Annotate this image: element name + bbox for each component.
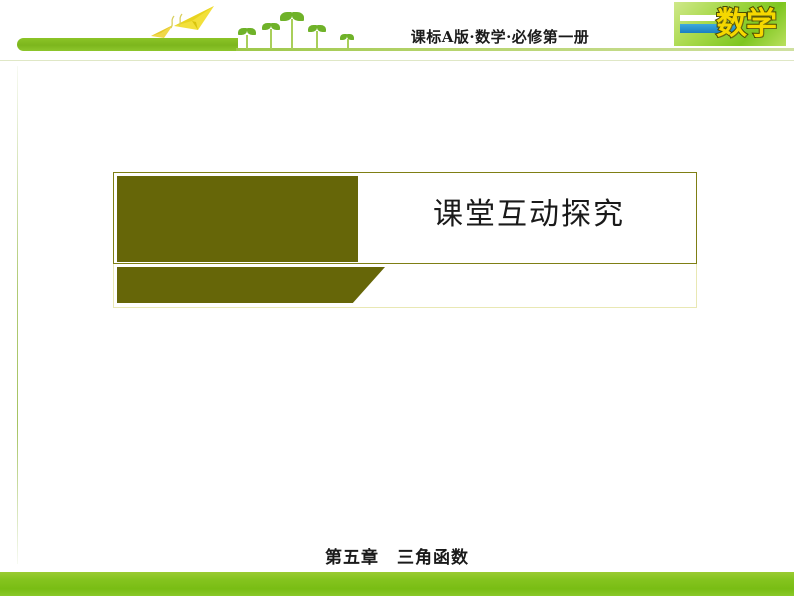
sprout-icon	[238, 27, 256, 49]
section-title-block	[117, 176, 358, 262]
header-title: 课标A版·数学·必修第一册	[380, 26, 620, 47]
slide-canvas: 课标A版·数学·必修第一册 数学 课堂互动探究 第五章 三角函数	[0, 0, 794, 596]
slide-header: 课标A版·数学·必修第一册 数学	[0, 0, 794, 62]
logo-label: 数学	[716, 4, 776, 44]
section-subtitle-box	[113, 264, 697, 308]
sprout-icon	[308, 24, 326, 49]
footer-green-bar	[0, 572, 794, 596]
subject-logo: 数学	[674, 2, 786, 46]
sprout-icon	[262, 22, 280, 49]
header-divider	[0, 60, 794, 61]
section-title-box: 课堂互动探究	[113, 172, 697, 264]
sprout-icon	[280, 11, 304, 49]
motion-squiggle-icon	[168, 12, 188, 30]
section-subtitle-block	[117, 267, 385, 303]
left-vertical-rule	[17, 66, 18, 564]
header-green-bar	[17, 38, 238, 51]
section-title-text: 课堂互动探究	[364, 189, 694, 233]
sprout-icon	[340, 33, 355, 49]
footer-chapter-label: 第五章 三角函数	[0, 543, 794, 568]
content-area: 课堂互动探究	[113, 172, 697, 308]
